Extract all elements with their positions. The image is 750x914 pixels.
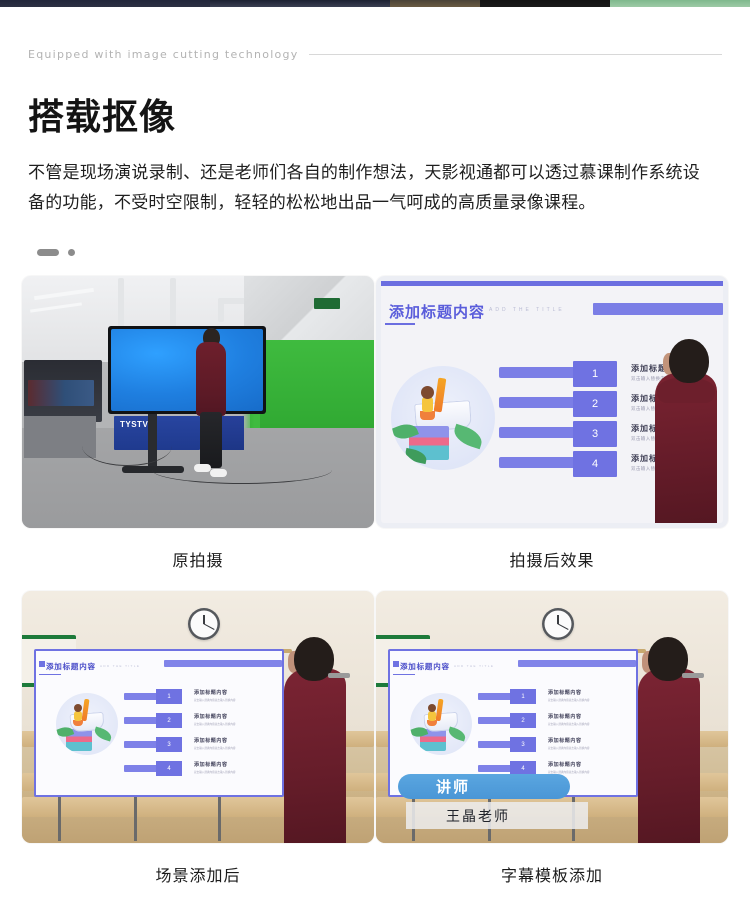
slide-item-3-heading: 添加标题内容 [548,737,590,744]
slide-item-2-heading: 添加标题内容 [548,713,590,720]
gallery-item-4[interactable]: 添加标题内容 ADD THE TITLE 1 [376,591,728,906]
wall-clock-icon [542,608,574,640]
flow-number-2: 2 [573,391,617,417]
floor-cable-2 [152,456,332,484]
sliver-segment-4 [480,0,610,7]
section-eyebrow: Equipped with image cutting technology [28,48,722,61]
eyebrow-divider [309,54,723,55]
slide-title-underline [385,323,415,325]
slide-item-2-body: 双击输入替换内容双击输入替换内容 [194,722,236,726]
flow-number-4: 4 [573,451,617,477]
section-description: 不管是现场演说录制、还是老师们各自的制作想法，天影视通都可以透过慕课制作系统设备… [28,158,700,218]
slide-title: 添加标题内容 [389,301,485,322]
clock-hand-minute [203,623,214,630]
slide-header-bar [593,303,723,315]
control-monitors [28,380,94,406]
gallery-item-2[interactable]: 添加标题内容 ADD THE TITLE [376,276,728,591]
flow-number-2: 2 [510,713,536,728]
slide-item-3: 添加标题内容 双击输入替换内容双击输入替换内容 [548,737,590,750]
presenter-torso [284,669,346,843]
illustration-leaf-2 [93,726,113,741]
pagination-dot-2[interactable] [68,249,75,256]
slide-title-marker [39,661,45,667]
slide-item-2-body: 双击输入替换内容双击输入替换内容 [548,722,590,726]
presenter-torso [196,342,226,416]
slide-item-2: 添加标题内容 双击输入替换内容双击输入替换内容 [194,713,236,726]
illustration-girl-head [421,386,434,399]
previous-section-sliver [0,0,750,7]
slide-header-bar [518,660,636,667]
slide-title: 添加标题内容 [46,661,96,672]
flow-pipe-3 [499,427,579,438]
slide-item-2-heading: 添加标题内容 [194,713,236,720]
slide-item-2: 添加标题内容 双击输入替换内容双击输入替换内容 [548,713,590,726]
photo-classroom-composite[interactable]: 添加标题内容 ADD THE TITLE 1 [22,591,374,843]
illustration-girl-head [74,704,82,712]
flow-number-2: 2 [156,713,182,728]
flow-pipe-2 [499,397,579,408]
slide-item-4: 添加标题内容 双击输入替换内容双击输入替换内容 [548,761,590,774]
gallery-caption-1: 原拍摄 [22,528,374,591]
slide-item-4-heading: 添加标题内容 [194,761,236,768]
sliver-segment-3 [390,0,480,7]
pagination-dot-1[interactable] [37,249,59,256]
ceiling-duct-drop [218,298,224,322]
slide-item-3-body: 双击输入替换内容双击输入替换内容 [548,746,590,750]
slide-item-4-body: 双击输入替换内容双击输入替换内容 [194,770,236,774]
gallery-caption-2: 拍摄后效果 [376,528,728,591]
presenter-head [669,339,709,383]
gallery-caption-4: 字幕模板添加 [376,843,728,906]
page-title: 搭载抠像 [28,96,176,138]
slide-item-1-body: 双击输入替换内容双击输入替换内容 [548,698,590,702]
flow-pipe-4 [499,457,579,468]
slide-title-underline [393,674,415,675]
flow-number-1: 1 [510,689,536,704]
lower-third-role: 讲师 [398,774,570,799]
gallery-item-3[interactable]: 添加标题内容 ADD THE TITLE 1 [22,591,374,906]
slide-title-underline [39,674,61,675]
flow-pipe-1 [499,367,579,378]
slide-title-en: ADD THE TITLE [100,664,140,668]
sliver-segment-1 [0,0,210,7]
illustration-girl-body [422,397,433,412]
gallery-caption-3: 场景添加后 [22,843,374,906]
slide-header-bar [164,660,282,667]
flow-number-3: 3 [510,737,536,752]
slide-item-1: 添加标题内容 双击输入替换内容双击输入替换内容 [548,689,590,702]
illustration-girl-body [428,711,436,721]
lower-third-name: 王晶老师 [406,802,588,829]
illustration-girl-body [74,711,82,721]
flow-number-3: 3 [573,421,617,447]
exit-sign-icon [314,298,340,309]
slide-canvas: 添加标题内容 ADD THE TITLE 1 [34,649,284,797]
ceiling-rail-2 [170,278,176,330]
illustration-leaf-2 [447,726,467,741]
photo-keyed-slide[interactable]: 添加标题内容 ADD THE TITLE [376,276,728,528]
desk-leg-3 [218,791,221,841]
slide-canvas: 添加标题内容 ADD THE TITLE [381,281,723,523]
presenter-torso [638,669,700,843]
microphone-icon [682,673,704,678]
carousel-pagination[interactable] [37,249,75,256]
floor-cable-1 [82,426,172,466]
slide-title-en: ADD THE TITLE [489,307,565,313]
interactive-display [108,326,266,414]
desk-leg-1 [58,791,61,841]
slide-title-en: ADD THE TITLE [454,664,494,668]
slide-item-1-body: 双击输入替换内容双击输入替换内容 [194,698,236,702]
illustration-girl-head [428,704,436,712]
display-screen [111,329,263,411]
slide-title: 添加标题内容 [400,661,450,672]
slide-title-marker [393,661,399,667]
slide-item-1-heading: 添加标题内容 [548,689,590,696]
slide-item-4-body: 双击输入替换内容双击输入替换内容 [548,770,590,774]
slide-illustration [410,693,472,755]
illustration-girl-skirt [420,411,435,420]
wall-clock-icon [188,608,220,640]
microphone-icon [328,673,350,678]
slide-item-4-heading: 添加标题内容 [548,761,590,768]
image-gallery: TYSTV 原拍摄 添加标题内容 ADD THE TITLE [22,276,728,906]
gallery-item-1[interactable]: TYSTV 原拍摄 [22,276,374,591]
desk-leg-2 [134,791,137,841]
flow-number-1: 1 [573,361,617,387]
slide-illustration [56,693,118,755]
flow-number-3: 3 [156,737,182,752]
slide-item-1-heading: 添加标题内容 [194,689,236,696]
clock-hand-minute [557,623,568,630]
ceiling-rail-1 [118,278,124,332]
flow-number-1: 1 [156,689,182,704]
photo-studio-green-screen[interactable]: TYSTV [22,276,374,528]
flow-number-4: 4 [156,761,182,776]
slide-item-3-heading: 添加标题内容 [194,737,236,744]
slide-item-4: 添加标题内容 双击输入替换内容双击输入替换内容 [194,761,236,774]
photo-classroom-with-subtitle[interactable]: 添加标题内容 ADD THE TITLE 1 [376,591,728,843]
sliver-segment-5 [610,0,750,7]
slide-flow-diagram: 1 2 3 4 [499,361,617,481]
slide-illustration [391,366,495,470]
eyebrow-text: Equipped with image cutting technology [28,48,299,61]
slide-top-accent-bar [381,281,723,286]
slide-item-3-body: 双击输入替换内容双击输入替换内容 [194,746,236,750]
sliver-segment-2 [210,0,390,7]
slide-item-3: 添加标题内容 双击输入替换内容双击输入替换内容 [194,737,236,750]
slide-item-1: 添加标题内容 双击输入替换内容双击输入替换内容 [194,689,236,702]
illustration-leaf-2 [451,424,485,449]
